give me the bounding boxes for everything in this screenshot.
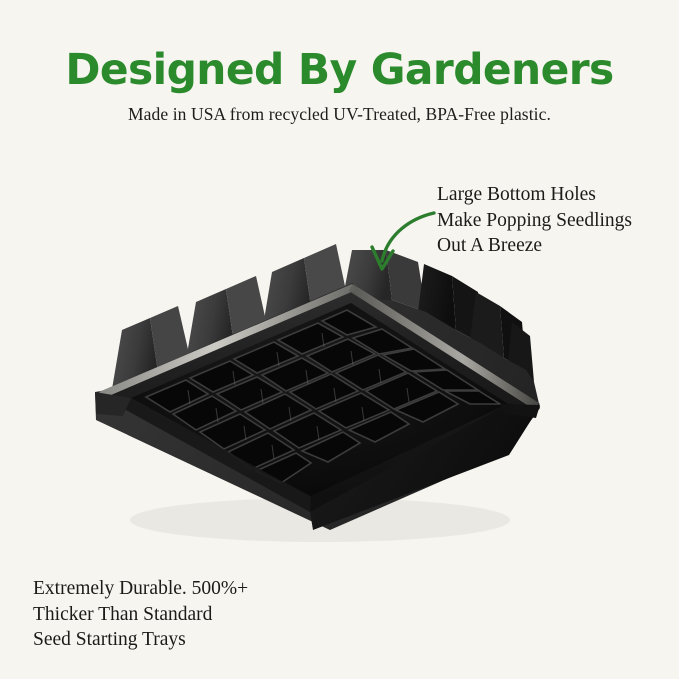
callout-large-bottom-holes: Large Bottom Holes Make Popping Seedling… — [437, 182, 632, 259]
callout-top-line-1: Large Bottom Holes — [437, 182, 632, 208]
callout-bottom-line-1: Extremely Durable. 500%+ — [33, 576, 248, 602]
callout-extremely-durable: Extremely Durable. 500%+ Thicker Than St… — [33, 576, 248, 653]
callout-top-line-3: Out A Breeze — [437, 233, 632, 259]
page-title: Designed By Gardeners — [5, 48, 674, 93]
infographic-canvas: Designed By Gardeners Made in USA from r… — [0, 0, 679, 679]
callout-top-line-2: Make Popping Seedlings — [437, 208, 632, 234]
callout-bottom-line-3: Seed Starting Trays — [33, 627, 248, 653]
callout-bottom-line-2: Thicker Than Standard — [33, 602, 248, 628]
page-subtitle: Made in USA from recycled UV-Treated, BP… — [0, 104, 679, 125]
